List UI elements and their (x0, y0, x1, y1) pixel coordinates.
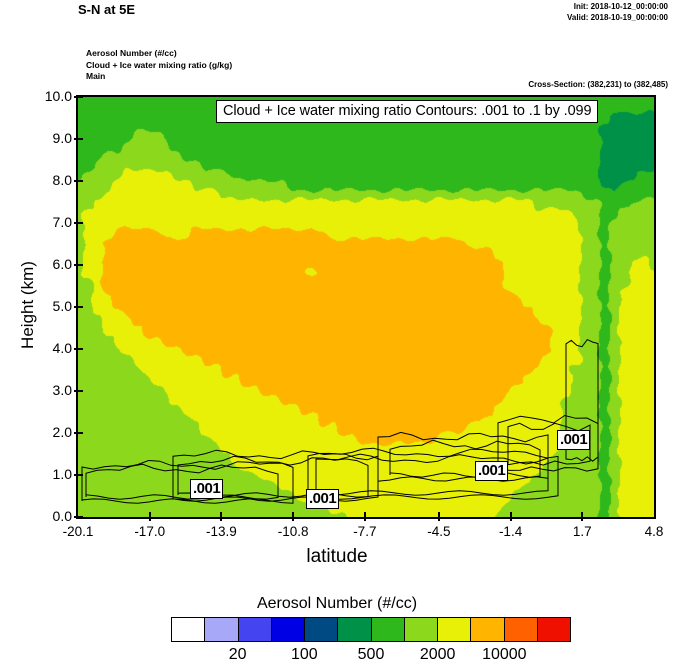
x-tick-label--13.9: -13.9 (186, 524, 256, 539)
y-tick-mark (74, 516, 83, 518)
x-tick-label-1.7: 1.7 (547, 524, 617, 539)
x-tick-label--10.8: -10.8 (258, 524, 328, 539)
colorbar-swatch-8 (438, 618, 471, 641)
contour-line (390, 440, 540, 477)
y-tick-label-3.0: 3.0 (16, 382, 72, 398)
colorbar-swatch-3 (272, 618, 305, 641)
contour-value-label: .001 (557, 430, 590, 450)
y-tick-label-2.0: 2.0 (16, 424, 72, 440)
y-tick-label-10.0: 10.0 (16, 88, 72, 104)
y-tick-mark (74, 138, 83, 140)
field-line-aerosol: Aerosol Number (#/cc) (86, 48, 232, 60)
x-axis-label: latitude (0, 546, 674, 568)
contour-line (86, 464, 278, 499)
x-tick-mark (149, 512, 151, 521)
contour-line (82, 461, 293, 504)
y-tick-mark (74, 432, 83, 434)
x-tick-mark (581, 512, 583, 521)
y-tick-label-9.0: 9.0 (16, 130, 72, 146)
page-title: S-N at 5E (78, 2, 135, 17)
y-tick-mark (74, 474, 83, 476)
colorbar-swatch-4 (305, 618, 338, 641)
x-tick-label--20.1: -20.1 (43, 524, 113, 539)
contour-line (308, 448, 558, 499)
y-tick-mark (74, 348, 83, 350)
y-tick-mark (74, 222, 83, 224)
x-tick-label--4.5: -4.5 (404, 524, 474, 539)
contour-value-label: .001 (190, 479, 223, 499)
x-tick-mark (220, 512, 222, 521)
field-line-mixing-ratio: Cloud + Ice water mixing ratio (g/kg) (86, 60, 232, 72)
init-time: Init: 2018-10-12_00:00:00 (567, 1, 668, 12)
y-tick-mark (74, 180, 83, 182)
colorbar-swatch-6 (372, 618, 405, 641)
x-tick-mark (510, 512, 512, 521)
colorbar-swatch-0 (172, 618, 205, 641)
contour-value-label: .001 (306, 489, 339, 509)
run-info-block: Init: 2018-10-12_00:00:00 Valid: 2018-10… (567, 1, 668, 23)
y-axis-label: Height (km) (18, 245, 38, 365)
y-tick-mark (74, 306, 83, 308)
colorbar-swatch-7 (405, 618, 438, 641)
plot-area: .001.001.001.001 Cloud + Ice water mixin… (76, 95, 656, 519)
colorbar-swatch-9 (471, 618, 504, 641)
field-line-domain: Main (86, 71, 232, 83)
y-tick-label-1.0: 1.0 (16, 466, 72, 482)
contour-line (378, 432, 548, 481)
colorbar-title: Aerosol Number (#/cc) (0, 595, 674, 613)
x-tick-label--7.7: -7.7 (330, 524, 400, 539)
x-tick-mark (364, 512, 366, 521)
colorbar-swatch-5 (338, 618, 371, 641)
colorbar-tick-10000: 10000 (464, 646, 544, 664)
colorbar (171, 617, 571, 642)
colorbar-swatch-2 (239, 618, 272, 641)
x-tick-mark (292, 512, 294, 521)
cross-section-endpoints: Cross-Section: (382,231) to (382,485) (528, 80, 668, 89)
y-tick-label-7.0: 7.0 (16, 214, 72, 230)
y-tick-mark (74, 390, 83, 392)
x-tick-mark (438, 512, 440, 521)
y-tick-label-8.0: 8.0 (16, 172, 72, 188)
x-axis-ticks: -20.1-17.0-13.9-10.8-7.7-4.5-1.41.74.8 (0, 521, 674, 541)
contour-title-box: Cloud + Ice water mixing ratio Contours:… (216, 100, 598, 123)
x-tick-label--1.4: -1.4 (476, 524, 546, 539)
colorbar-swatch-11 (538, 618, 570, 641)
mixing-ratio-contours (78, 97, 654, 517)
y-tick-mark (74, 96, 83, 98)
colorbar-swatch-10 (505, 618, 538, 641)
valid-time: Valid: 2018-10-19_00:00:00 (567, 12, 668, 23)
y-tick-mark (74, 264, 83, 266)
contour-value-label: .001 (475, 461, 508, 481)
field-info-block: Aerosol Number (#/cc) Cloud + Ice water … (86, 48, 232, 83)
x-tick-label--17.0: -17.0 (115, 524, 185, 539)
x-tick-label-4.8: 4.8 (619, 524, 674, 539)
colorbar-swatch-1 (205, 618, 238, 641)
